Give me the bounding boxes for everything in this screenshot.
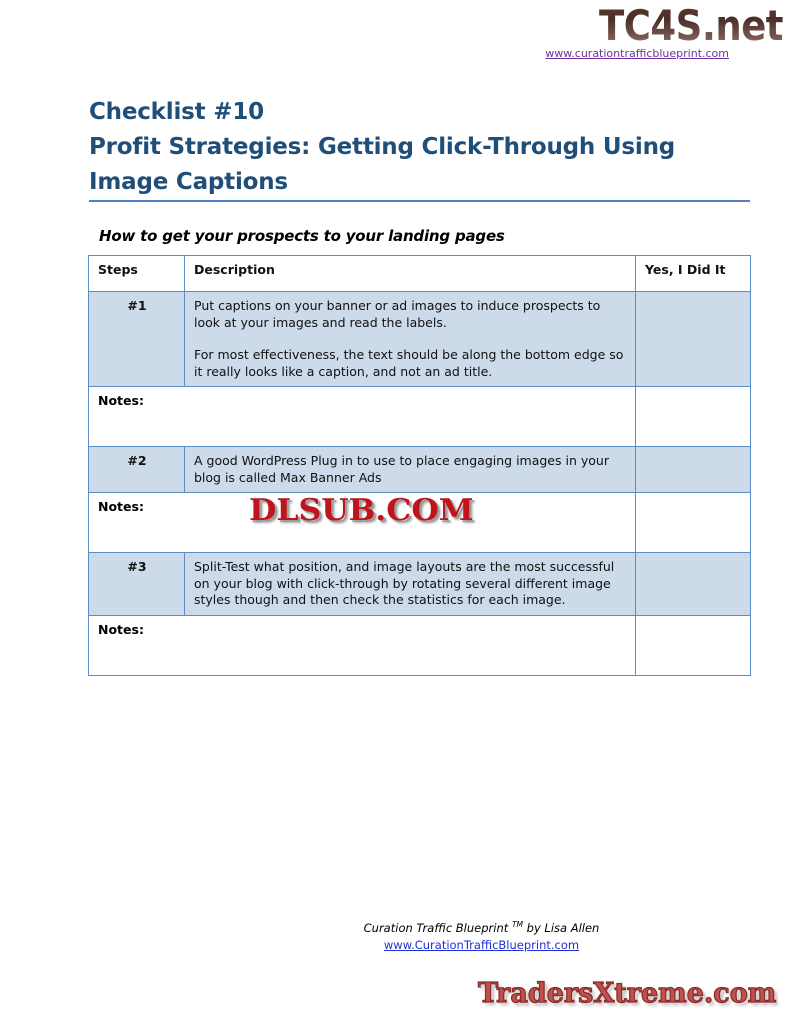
notes-label: Notes:	[98, 499, 144, 514]
checkbox-cell[interactable]	[636, 447, 751, 493]
column-header-description: Description	[185, 256, 636, 292]
table-row: #3 Split-Test what position, and image l…	[89, 553, 751, 616]
title-line-1: Checklist #10	[89, 95, 751, 130]
notes-checkbox-cell[interactable]	[636, 615, 751, 675]
step-description: A good WordPress Plug in to use to place…	[185, 447, 636, 493]
footer-credit: Curation Traffic Blueprint TM by Lisa Al…	[172, 920, 791, 935]
step-description: Put captions on your banner or ad images…	[185, 292, 636, 387]
subtitle: How to get your prospects to your landin…	[99, 227, 505, 245]
trademark-symbol: TM	[512, 920, 523, 929]
checkbox-cell[interactable]	[636, 292, 751, 387]
footer-site-link[interactable]: www.CurationTrafficBlueprint.com	[172, 938, 791, 952]
notes-cell[interactable]: Notes:	[89, 387, 636, 447]
notes-cell[interactable]: Notes:	[89, 493, 636, 553]
column-header-steps: Steps	[89, 256, 185, 292]
footer-credit-suffix: by Lisa Allen	[523, 921, 599, 935]
document-page: TC4S.net www.curationtrafficblueprint.co…	[0, 0, 791, 1024]
header-site-link[interactable]: www.curationtrafficblueprint.com	[545, 47, 729, 60]
notes-label: Notes:	[98, 622, 144, 637]
step-number: #1	[89, 292, 185, 387]
step-number: #3	[89, 553, 185, 616]
table-header-row: Steps Description Yes, I Did It	[89, 256, 751, 292]
notes-cell[interactable]: Notes:	[89, 615, 636, 675]
description-paragraph: Put captions on your banner or ad images…	[194, 298, 627, 331]
page-title: Checklist #10 Profit Strategies: Getting…	[89, 95, 751, 200]
description-paragraph: A good WordPress Plug in to use to place…	[194, 453, 627, 486]
brand-header: TC4S.net www.curationtrafficblueprint.co…	[0, 0, 791, 72]
checkbox-cell[interactable]	[636, 553, 751, 616]
checklist-table: Steps Description Yes, I Did It #1 Put c…	[88, 255, 751, 676]
footer: Curation Traffic Blueprint TM by Lisa Al…	[0, 920, 791, 952]
title-line-3: Image Captions	[89, 165, 751, 200]
title-line-2: Profit Strategies: Getting Click-Through…	[89, 130, 751, 165]
tradersxtreme-logo: TradersXtreme.com	[478, 978, 776, 1009]
table-row: #1 Put captions on your banner or ad ima…	[89, 292, 751, 387]
notes-label: Notes:	[98, 393, 144, 408]
notes-checkbox-cell[interactable]	[636, 387, 751, 447]
table-row: #2 A good WordPress Plug in to use to pl…	[89, 447, 751, 493]
step-number: #2	[89, 447, 185, 493]
notes-checkbox-cell[interactable]	[636, 493, 751, 553]
description-paragraph: Split-Test what position, and image layo…	[194, 559, 627, 609]
notes-row: Notes:	[89, 615, 751, 675]
description-paragraph: For most effectiveness, the text should …	[194, 347, 627, 380]
step-description: Split-Test what position, and image layo…	[185, 553, 636, 616]
tc4s-logo: TC4S.net	[599, 2, 783, 50]
notes-row: Notes:	[89, 387, 751, 447]
title-divider	[89, 200, 750, 202]
notes-row: Notes:	[89, 493, 751, 553]
footer-credit-prefix: Curation Traffic Blueprint	[364, 921, 512, 935]
column-header-yes-i-did-it: Yes, I Did It	[636, 256, 751, 292]
